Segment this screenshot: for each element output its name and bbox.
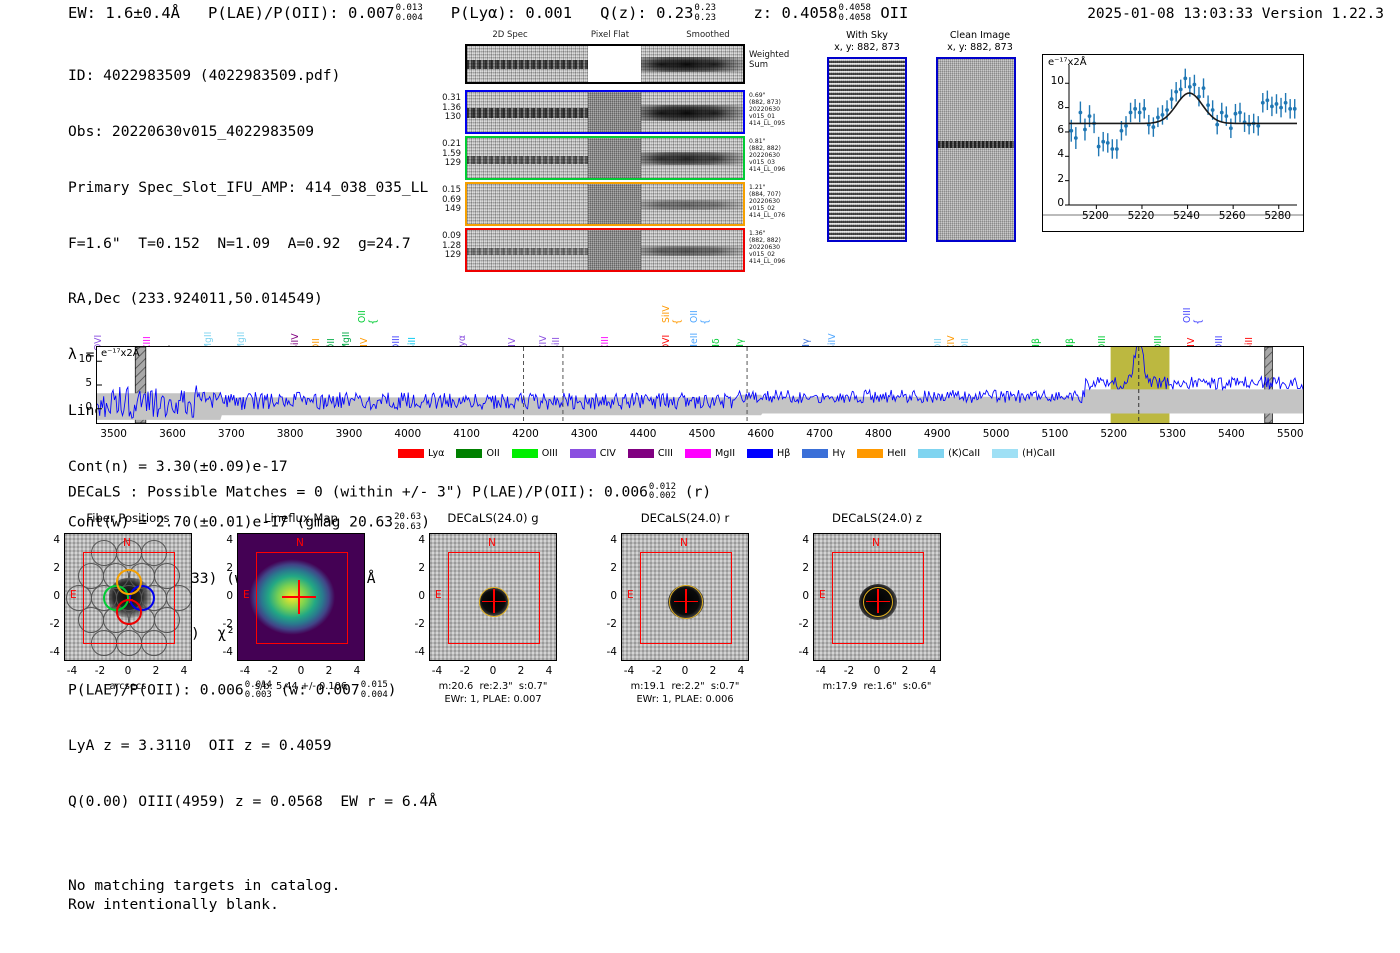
header-qz-lo: 0.23	[694, 13, 716, 23]
panel-0-xtick-0: -4	[60, 665, 84, 677]
line-fit-ytick: 2	[1046, 173, 1064, 185]
panel-caption-0: arcsecs	[34, 681, 222, 694]
panel-3-ytick-4: 4	[597, 534, 617, 546]
spectrum-ytick: 5	[70, 377, 92, 389]
header-ew: EW: 1.6±0.4Å	[68, 4, 180, 22]
line-fit-ytick: 8	[1046, 100, 1064, 112]
panel-4-ytick-3: 2	[789, 562, 809, 574]
panel-2-ytick-3: 2	[405, 562, 425, 574]
panel-title-2: DECaLS(24.0) g	[407, 511, 579, 525]
panel-3-ytick-1: -2	[597, 618, 617, 630]
cutout-clean-image	[936, 57, 1016, 242]
legend-swatch-hβ	[747, 449, 773, 458]
strip-1-meta: 0.69" (882, 873) 20220630 v015_01 414_LL…	[749, 92, 809, 127]
panel-2-xtick-0: -4	[425, 665, 449, 677]
col-header-smoothed: Smoothed	[663, 30, 753, 40]
spectrum-xtick: 3500	[90, 428, 138, 440]
panel-3-xtick-0: -4	[617, 665, 641, 677]
line-fit-ytick: 0	[1046, 197, 1064, 209]
cutout-withsky-image	[827, 57, 907, 242]
legend-swatch-hγ	[802, 449, 828, 458]
panel-4-xtick-0: -4	[809, 665, 833, 677]
panel-2-xtick-2: 0	[481, 665, 505, 677]
spectrum-xtick: 5400	[1207, 428, 1255, 440]
legend-item-heii: HeII	[857, 448, 906, 459]
legend-item-ciii: CIII	[628, 448, 673, 459]
line-fit-ytick: 6	[1046, 124, 1064, 136]
legend-label-oiii: OIII	[542, 448, 558, 459]
panel-2-ytick-2: 0	[405, 590, 425, 602]
panel-1-ytick-1: -2	[213, 618, 233, 630]
info-obs: Obs: 20220630v015_4022983509	[68, 123, 437, 142]
panel-2-ytick-0: -4	[405, 646, 425, 658]
emission-line-legend: LyαOIIOIIICIVCIIIMgIIHβHγHeII(K)CaII(H)C…	[398, 448, 1055, 459]
line-fit-xtick: 5220	[1124, 210, 1158, 222]
panel-0-xtick-4: 4	[172, 665, 196, 677]
strip-3-meta: 1.21" (884, 707) 20220630 v015_02 414_LL…	[749, 184, 809, 219]
spectrum-xtick: 4500	[678, 428, 726, 440]
panel-1-ytick-0: -4	[213, 646, 233, 658]
legend-swatch-heii	[857, 449, 883, 458]
panel-1-xtick-4: 4	[345, 665, 369, 677]
compass-e-1: E	[243, 589, 250, 601]
panel-caption2-3: EWr: 1, PLAE: 0.006	[591, 694, 779, 707]
header-plae-value: 0.007	[348, 4, 395, 22]
spectrum-xtick: 4700	[796, 428, 844, 440]
strip-fiber-1	[465, 90, 745, 134]
legend-swatch-oii	[456, 449, 482, 458]
spectrum-xtick: 3900	[325, 428, 373, 440]
compass-n-1: N	[296, 537, 304, 549]
panel-caption-2: m:20.6 re:2.3" s:0.7"	[399, 681, 587, 694]
timestamp-version: 2025-01-08 13:03:33 Version 1.22.3	[1087, 6, 1384, 22]
panel-1-ytick-4: 4	[213, 534, 233, 546]
strip-3-left-values: 0.15 0.69 149	[425, 186, 461, 215]
legend-label-hγ: Hγ	[832, 448, 845, 459]
panel-image-2	[429, 533, 557, 661]
col-header-pixelflat: Pixel Flat	[565, 30, 655, 40]
info-qz-oiii: Q(0.00) OIII(4959) z = 0.0568 EW r = 6.4…	[68, 793, 437, 812]
panel-3-ytick-3: 2	[597, 562, 617, 574]
line-id-brace-19: {	[700, 319, 711, 325]
legend-label-ciii: CIII	[658, 448, 673, 459]
strip-weighted-sum	[465, 44, 745, 84]
cutout-withsky-title: With Sky x, y: 882, 873	[822, 30, 912, 53]
spectrum-xtick: 4400	[619, 428, 667, 440]
legend-label-hβ: Hβ	[777, 448, 790, 459]
line-fit-chart: e⁻¹⁷x2Å	[1042, 54, 1304, 232]
line-id-brace-17: {	[672, 319, 683, 325]
legend-item-hβ: Hβ	[747, 448, 790, 459]
header-z-label: z:	[753, 4, 772, 22]
panel-0-xtick-1: -2	[88, 665, 112, 677]
panel-title-4: DECaLS(24.0) z	[791, 511, 963, 525]
info-redshifts: LyA z = 3.3110 OII z = 0.4059	[68, 737, 437, 756]
header-qz-value: 0.23	[656, 4, 693, 22]
weighted-sum-label: WeightedSum	[749, 50, 789, 70]
panel-title-3: DECaLS(24.0) r	[599, 511, 771, 525]
header-z-lo: 0.4058	[838, 13, 871, 23]
panel-4-ytick-4: 4	[789, 534, 809, 546]
compass-e-3: E	[627, 589, 634, 601]
panel-3-ytick-2: 0	[597, 590, 617, 602]
line-fit-ytick: 10	[1046, 75, 1064, 87]
panel-1-xtick-0: -4	[233, 665, 257, 677]
spectrum-xtick: 3600	[148, 428, 196, 440]
panel-title-1: Lineflux Map	[215, 511, 387, 525]
line-fit-ytick: 4	[1046, 148, 1064, 160]
panel-image-1	[237, 533, 365, 661]
panel-2-xtick-1: -2	[453, 665, 477, 677]
panel-title-0: Fiber Positions	[42, 511, 214, 525]
panel-1-ytick-3: 2	[213, 562, 233, 574]
compass-n-4: N	[872, 537, 880, 549]
panel-3-xtick-4: 4	[729, 665, 753, 677]
strip-fiber-2	[465, 136, 745, 180]
panel-4-ytick-0: -4	[789, 646, 809, 658]
legend-label-oii: OII	[486, 448, 499, 459]
spectrum-xtick: 4300	[560, 428, 608, 440]
strip-1-left-values: 0.31 1.36 130	[425, 94, 461, 123]
strip-2-left-values: 0.21 1.59 129	[425, 140, 461, 169]
cross-v-3	[685, 589, 686, 613]
line-fit-svg	[1043, 55, 1303, 231]
header-z-species: OII	[880, 4, 908, 22]
emission-line-id-labels: OVI{CIII{MgII{MgII{SiIV{OII{OII{MgII{OII…	[0, 278, 1400, 346]
panel-4-xtick-1: -2	[837, 665, 861, 677]
spectrum-xtick: 3700	[207, 428, 255, 440]
line-fit-xtick: 5240	[1170, 210, 1204, 222]
panel-2-ytick-4: 4	[405, 534, 425, 546]
panel-image-3	[621, 533, 749, 661]
compass-n-3: N	[680, 537, 688, 549]
legend-swatch-(h)caii	[992, 449, 1018, 458]
full-spectrum-chart: e⁻¹⁷x2Å	[96, 346, 1304, 424]
footer-note: No matching targets in catalog. Row inte…	[68, 876, 340, 914]
spectrum-xtick: 4600	[737, 428, 785, 440]
header-summary-line: EW: 1.6±0.4Å P(LAE)/P(OII): 0.0070.0130.…	[68, 4, 908, 23]
cross-v-2	[493, 589, 494, 613]
lineflux-cross-v	[298, 580, 300, 614]
line-id-oiii-31: OIII	[1182, 307, 1193, 323]
legend-item-mgii: MgII	[685, 448, 735, 459]
panel-image-0: +	[64, 533, 192, 661]
header-z-value: 0.4058	[781, 4, 837, 22]
panel-3-xtick-3: 2	[701, 665, 725, 677]
panel-caption2-2: EWr: 1, PLAE: 0.007	[399, 694, 587, 707]
panel-1-xtick-2: 0	[289, 665, 313, 677]
legend-item-civ: CIV	[570, 448, 616, 459]
strip-4-meta: 1.36" (882, 882) 20220630 v015_02 414_LL…	[749, 230, 809, 265]
panel-0-xtick-2: 0	[116, 665, 140, 677]
legend-item-oii: OII	[456, 448, 499, 459]
legend-swatch-lyα	[398, 449, 424, 458]
compass-n-0: N	[123, 537, 131, 549]
legend-item-hγ: Hγ	[802, 448, 845, 459]
panel-1-xtick-1: -2	[261, 665, 285, 677]
legend-label-civ: CIV	[600, 448, 616, 459]
compass-e-4: E	[819, 589, 826, 601]
spectrum-svg	[97, 347, 1303, 423]
panel-1-ytick-2: 0	[213, 590, 233, 602]
center-cross-marker: +	[125, 593, 134, 606]
panel-2-xtick-3: 2	[509, 665, 533, 677]
spectrum-units: e⁻¹⁷x2Å	[101, 348, 140, 359]
header-qz-label: Q(z):	[600, 4, 647, 22]
line-id-siiv-17: SiIV	[661, 305, 672, 323]
panel-0-ytick-1: -2	[40, 618, 60, 630]
panel-0-ytick-0: -4	[40, 646, 60, 658]
spectrum-xtick: 5000	[972, 428, 1020, 440]
legend-label-heii: HeII	[887, 448, 906, 459]
spectrum-ytick: 10	[70, 353, 92, 365]
line-id-brace-31: {	[1193, 319, 1204, 325]
legend-swatch-ciii	[628, 449, 654, 458]
panel-2-xtick-4: 4	[537, 665, 561, 677]
spectrum-ytick: 0	[70, 401, 92, 413]
panel-caption-1: s/b: 5.44 +/- 0.106	[207, 681, 395, 694]
cross-v-4	[877, 589, 878, 613]
legend-item-(h)caii: (H)CaII	[992, 448, 1055, 459]
line-id-oii-19: OII	[689, 310, 700, 323]
compass-e-2: E	[435, 589, 442, 601]
panel-4-xtick-4: 4	[921, 665, 945, 677]
lineflux-fov-box	[256, 552, 348, 644]
panel-0-ytick-4: 4	[40, 534, 60, 546]
panel-4-ytick-2: 0	[789, 590, 809, 602]
legend-label-(k)caii: (K)CaII	[948, 448, 980, 459]
line-id-brace-8: {	[368, 319, 379, 325]
spectrum-xtick: 4800	[854, 428, 902, 440]
legend-item-(k)caii: (K)CaII	[918, 448, 980, 459]
spectrum-xtick: 5300	[1149, 428, 1197, 440]
legend-item-oiii: OIII	[512, 448, 558, 459]
panel-caption-3: m:19.1 re:2.2" s:0.7"	[591, 681, 779, 694]
info-id: ID: 4022983509 (4022983509.pdf)	[68, 67, 437, 86]
panel-1-xtick-3: 2	[317, 665, 341, 677]
panel-image-4	[813, 533, 941, 661]
info-cont-n: Cont(n) = 3.30(±0.09)e-17	[68, 458, 437, 477]
strip-fiber-4	[465, 228, 745, 272]
legend-item-lyα: Lyα	[398, 448, 444, 459]
spec2d-panel: 2D Spec Pixel Flat Smoothed WeightedSum …	[425, 30, 765, 255]
spectrum-xtick: 4200	[501, 428, 549, 440]
spectrum-xtick: 4000	[384, 428, 432, 440]
spectrum-xtick: 4900	[913, 428, 961, 440]
panel-3-ytick-0: -4	[597, 646, 617, 658]
compass-e-0: E	[70, 589, 77, 601]
legend-label-lyα: Lyα	[428, 448, 444, 459]
line-id-oii-8: OII	[357, 310, 368, 323]
spectrum-xtick: 5500	[1266, 428, 1314, 440]
panel-4-xtick-3: 2	[893, 665, 917, 677]
panel-3-xtick-1: -2	[645, 665, 669, 677]
panel-0-ytick-2: 0	[40, 590, 60, 602]
info-seeing: F=1.6" T=0.152 N=1.09 A=0.92 g=24.7	[68, 235, 437, 254]
spectrum-xtick: 4100	[443, 428, 491, 440]
col-header-2dspec: 2D Spec	[465, 30, 555, 40]
spectrum-xtick: 3800	[266, 428, 314, 440]
legend-label-(h)caii: (H)CaII	[1022, 448, 1055, 459]
panel-4-ytick-1: -2	[789, 618, 809, 630]
legend-swatch-oiii	[512, 449, 538, 458]
info-primary-spec: Primary Spec_Slot_IFU_AMP: 414_038_035_L…	[68, 179, 437, 198]
spectrum-xtick: 5200	[1090, 428, 1138, 440]
decals-heading: DECaLS : Possible Matches = 0 (within +/…	[68, 483, 711, 502]
line-fit-xtick: 5260	[1215, 210, 1249, 222]
strip-fiber-3	[465, 182, 745, 226]
line-fit-xtick: 5200	[1078, 210, 1112, 222]
legend-label-mgii: MgII	[715, 448, 735, 459]
panel-3-xtick-2: 0	[673, 665, 697, 677]
compass-n-2: N	[488, 537, 496, 549]
legend-swatch-(k)caii	[918, 449, 944, 458]
legend-swatch-civ	[570, 449, 596, 458]
panel-2-ytick-1: -2	[405, 618, 425, 630]
line-fit-xtick: 5280	[1261, 210, 1295, 222]
spectrum-xtick: 5100	[1031, 428, 1079, 440]
header-plya: P(Lyα): 0.001	[451, 4, 572, 22]
panel-0-xtick-3: 2	[144, 665, 168, 677]
cutout-clean-title: Clean Image x, y: 882, 873	[930, 30, 1030, 53]
header-plae-label: P(LAE)/P(OII):	[208, 4, 339, 22]
panel-4-xtick-2: 0	[865, 665, 889, 677]
header-plae-lo: 0.004	[396, 13, 423, 23]
legend-swatch-mgii	[685, 449, 711, 458]
panel-caption-4: m:17.9 re:1.6" s:0.6"	[783, 681, 971, 694]
strip-4-left-values: 0.09 1.28 129	[425, 232, 461, 261]
panel-0-ytick-3: 2	[40, 562, 60, 574]
strip-2-meta: 0.81" (882, 882) 20220630 v015_03 414_LL…	[749, 138, 809, 173]
